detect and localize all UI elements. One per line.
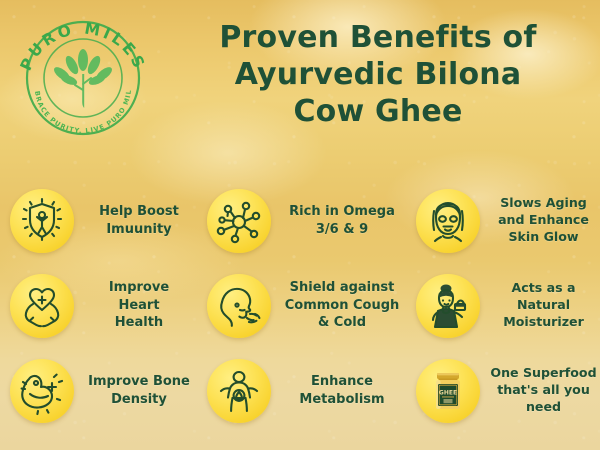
benefit-text-natural-moisturizer: Acts as a Natural Moisturizer [487,280,600,331]
benefit-text-cough-and-cold: Shield against Common Cough & Cold [278,279,406,331]
tree-icon [52,49,114,108]
molecule-icon [213,195,265,247]
benefit-text-bone-density: Improve Bone Density [81,373,197,408]
badge-one-superfood: GHEE [416,359,480,423]
page-title: Proven Benefits of Ayurvedic Bilona Cow … [160,20,596,131]
poster-canvas: PURO MILES EMBRACE PURITY, LIVE PURO MIL… [0,0,600,450]
benefit-boost-immunity: Help Boost Imuunity [0,178,197,263]
title-line-1: Proven Benefits of [160,20,596,57]
benefit-bone-density: Improve Bone Density [0,348,197,433]
benefit-heart-health: Improve Heart Health [0,263,197,348]
face-mask-icon [422,195,474,247]
badge-rich-in-omega [207,189,271,253]
line: One Superfood [490,365,596,380]
badge-body-metabolism-icon-wrap [207,359,271,423]
line: Natural [517,297,570,312]
line: that's all you [497,382,590,397]
benefit-cough-and-cold: Shield against Common Cough & Cold [197,263,406,348]
ghee-jar-icon: GHEE [422,365,474,417]
shield-person-icon [16,195,68,247]
line: Common Cough [285,298,400,313]
benefit-slows-aging: Slows Aging and Enhance Skin Glow [406,178,600,263]
line: Improve [109,280,169,295]
line: 3/6 & 9 [316,222,368,237]
benefit-text-slows-aging: Slows Aging and Enhance Skin Glow [487,195,600,246]
line: and Enhance [498,212,589,227]
benefit-one-superfood: GHEE One Superfood that's all you need [406,348,600,433]
badge-slows-aging [416,189,480,253]
benefit-text-heart-health: Improve Heart Health [81,279,197,331]
woman-cream-jar-icon [422,280,474,332]
line: need [526,399,561,414]
line: Moisturizer [503,314,584,329]
badge-bone-density [10,359,74,423]
badge-natural-moisturizer [416,274,480,338]
benefit-rich-in-omega: Rich in Omega 3/6 & 9 [197,178,406,263]
badge-cough-and-cold [207,274,271,338]
line: Skin Glow [508,229,578,244]
line: Enhance [311,374,373,389]
body-metabolism-icon [213,365,265,417]
line: & Cold [318,315,366,330]
benefit-text-rich-in-omega: Rich in Omega 3/6 & 9 [278,203,406,238]
benefits-grid: Help Boost Imuunity Ric [0,178,600,433]
line: Health [115,315,163,330]
line: Improve Bone [88,374,190,389]
badge-heart-health [10,274,74,338]
benefit-text-boost-immunity: Help Boost Imuunity [81,203,197,238]
line: Heart [118,298,159,313]
badge-boost-immunity [10,189,74,253]
flexed-arm-icon [16,365,68,417]
line: Shield against [290,280,395,295]
line: Acts as a [512,280,576,295]
hands-heart-icon [16,280,68,332]
brand-logo: PURO MILES EMBRACE PURITY, LIVE PURO MIL… [12,16,154,138]
benefit-enhance-metabolism: Enhance Metabolism [197,348,406,433]
benefit-natural-moisturizer: Acts as a Natural Moisturizer [406,263,600,348]
line: Metabolism [299,392,384,407]
benefit-text-enhance-metabolism: Enhance Metabolism [278,373,406,408]
sneezing-face-icon [213,280,265,332]
title-line-3: Cow Ghee [160,94,596,131]
line: Imuunity [106,222,171,237]
line: Help Boost [99,204,179,219]
title-line-2: Ayurvedic Bilona [160,57,596,94]
jar-label-text: GHEE [439,389,457,396]
benefit-text-one-superfood: One Superfood that's all you need [487,365,600,416]
line: Density [111,392,167,407]
line: Slows Aging [500,195,587,210]
line: Rich in Omega [289,204,395,219]
